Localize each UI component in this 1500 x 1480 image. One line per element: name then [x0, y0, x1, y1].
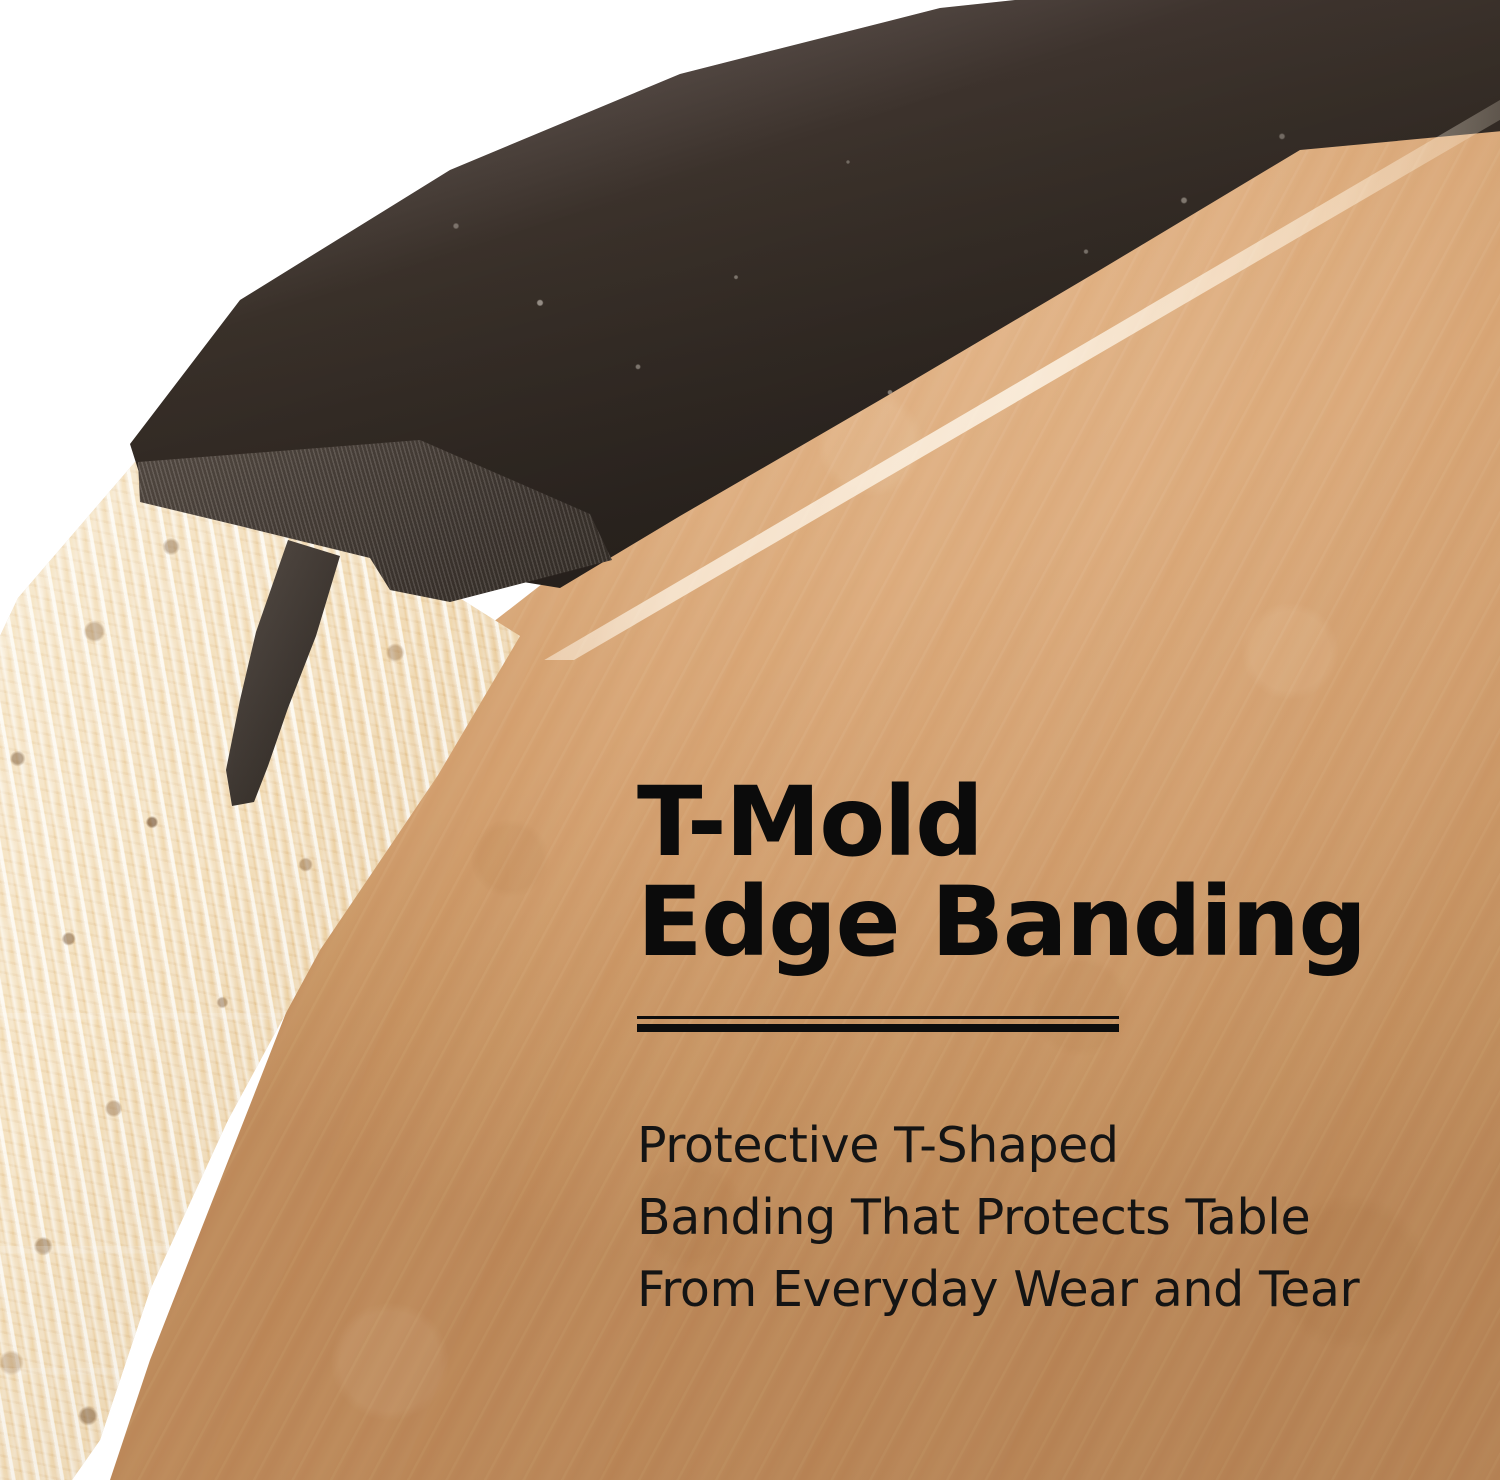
- divider-thick-rule: [637, 1024, 1119, 1032]
- product-description: Protective T-Shaped Banding That Protect…: [637, 1110, 1417, 1326]
- product-marketing-image: T-Mold Edge Banding Protective T-Shaped …: [0, 0, 1500, 1480]
- marketing-copy-block: T-Mold Edge Banding Protective T-Shaped …: [637, 772, 1417, 1326]
- double-rule-divider: [637, 1016, 1119, 1032]
- product-headline: T-Mold Edge Banding: [637, 772, 1417, 972]
